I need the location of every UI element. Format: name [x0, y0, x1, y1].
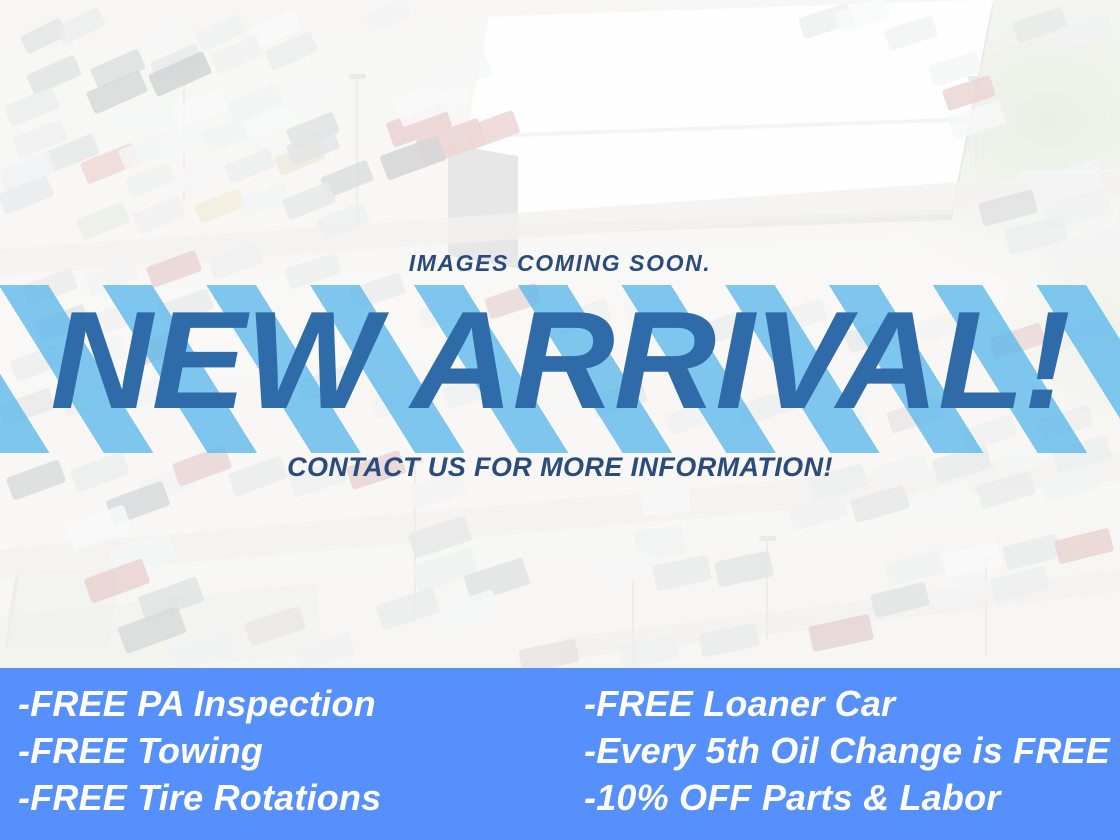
parked-vehicle: [170, 89, 228, 130]
parked-trailer: [1030, 159, 1105, 204]
parked-vehicle: [884, 550, 944, 587]
parked-vehicle: [914, 479, 974, 518]
parked-vehicle: [294, 632, 357, 673]
parked-vehicle: [280, 75, 338, 116]
offer-item: -10% OFF Parts & Labor: [584, 774, 1120, 821]
new-arrival-banner: IMAGES COMING SOON. NEW ARRIVAL! CONTACT…: [0, 0, 1120, 840]
contact-us-subtitle: CONTACT US FOR MORE INFORMATION!: [0, 452, 1120, 483]
parked-vehicle: [90, 48, 146, 89]
offers-left-column: -FREE PA Inspection -FREE Towing -FREE T…: [0, 668, 578, 840]
parked-vehicle: [117, 606, 187, 654]
parked-vehicle: [618, 634, 680, 670]
parked-vehicle: [316, 201, 371, 240]
parked-vehicle: [138, 15, 190, 54]
offer-item: -FREE PA Inspection: [18, 680, 578, 727]
parked-vehicle: [116, 97, 174, 138]
parked-vehicle: [641, 484, 692, 517]
offer-item: -FREE Towing: [18, 727, 578, 774]
parked-vehicle: [714, 550, 774, 587]
parked-vehicle: [808, 614, 874, 652]
images-coming-soon-text: IMAGES COMING SOON.: [0, 250, 1120, 277]
parked-vehicle: [148, 51, 213, 97]
parked-vehicle: [942, 75, 996, 111]
parked-vehicle: [286, 111, 341, 150]
parked-vehicle: [942, 542, 1002, 579]
parked-vehicle: [0, 151, 56, 192]
new-arrival-headline: NEW ARRIVAL!: [0, 286, 1120, 436]
warehouse-roof: [447, 0, 993, 232]
parked-vehicle: [168, 629, 237, 674]
lot-lane-3: [561, 562, 1120, 659]
parked-vehicle: [930, 574, 990, 611]
parked-vehicle: [274, 140, 326, 177]
parked-vehicle: [1054, 528, 1114, 565]
parked-vehicle: [928, 51, 982, 87]
parked-vehicle: [12, 119, 68, 159]
parked-vehicle: [238, 182, 290, 219]
parked-vehicle: [210, 35, 265, 75]
parked-vehicle: [850, 485, 910, 524]
parked-vehicle: [1002, 534, 1062, 571]
parked-vehicle: [137, 576, 204, 622]
parked-vehicle: [434, 589, 501, 633]
parked-vehicle: [56, 7, 106, 45]
parked-vehicle: [118, 131, 174, 171]
parked-vehicle: [407, 515, 472, 558]
light-pole-3: [414, 462, 416, 622]
light-pole-6: [985, 560, 987, 656]
parked-vehicle: [150, 43, 205, 83]
parked-vehicle: [26, 54, 82, 95]
parked-vehicle: [1012, 7, 1068, 44]
offers-right-column: -FREE Loaner Car -Every 5th Oil Change i…: [578, 668, 1120, 840]
parked-vehicle: [224, 148, 276, 185]
parked-vehicle: [83, 558, 150, 604]
light-pole-7: [183, 82, 185, 202]
parked-vehicle: [20, 17, 68, 54]
light-pole-2: [975, 80, 977, 170]
parked-truck: [379, 135, 446, 181]
parked-truck: [463, 110, 520, 150]
parked-vehicle: [124, 162, 176, 199]
parked-vehicle: [652, 554, 712, 591]
parked-vehicle: [226, 83, 284, 124]
parked-vehicle: [244, 606, 307, 647]
parked-vehicle: [80, 142, 141, 184]
parked-vehicle: [242, 103, 298, 143]
offer-item: -Every 5th Oil Change is FREE: [584, 727, 1120, 774]
parked-vehicle: [65, 504, 133, 552]
parked-vehicle: [202, 113, 258, 153]
parked-truck: [385, 102, 452, 148]
parked-truck: [415, 118, 487, 167]
parked-vehicle: [364, 0, 412, 34]
parked-vehicle: [1058, 13, 1114, 50]
light-pole-1: [356, 78, 358, 228]
parked-vehicle: [375, 587, 440, 630]
parked-truck: [978, 189, 1038, 227]
offer-item: -FREE Tire Rotations: [18, 774, 578, 821]
parked-trailer: [1042, 188, 1112, 230]
parked-vehicle: [174, 156, 226, 193]
parked-vehicle: [109, 530, 177, 578]
parked-vehicle: [264, 31, 319, 71]
parked-vehicle: [320, 159, 375, 198]
parked-vehicle: [0, 175, 54, 215]
left-shed-building: [4, 570, 120, 648]
parked-vehicle: [948, 100, 1007, 140]
parked-vehicle: [194, 13, 246, 52]
box-truck: [427, 51, 492, 96]
parked-vehicle: [798, 3, 854, 40]
parked-vehicle: [250, 9, 302, 48]
service-offers-banner: -FREE PA Inspection -FREE Towing -FREE T…: [0, 668, 1120, 840]
parked-vehicle: [592, 550, 652, 587]
parked-vehicle: [698, 622, 760, 658]
box-truck: [393, 75, 471, 128]
parked-vehicle: [870, 582, 930, 619]
parked-vehicle: [194, 188, 246, 225]
parked-vehicle: [990, 566, 1050, 603]
parked-vehicle: [76, 201, 131, 240]
light-pole-4: [632, 560, 634, 670]
parked-vehicle: [463, 557, 531, 603]
parked-vehicle: [834, 0, 890, 33]
parked-vehicle: [132, 195, 187, 234]
parked-vehicle: [158, 121, 214, 161]
parked-vehicle: [286, 127, 341, 166]
parked-vehicle: [788, 493, 848, 532]
parked-vehicle: [86, 69, 149, 115]
parked-vehicle: [411, 547, 479, 593]
parked-vehicle: [635, 526, 686, 559]
light-pole-5: [766, 540, 768, 640]
parked-vehicle: [884, 15, 938, 51]
parked-vehicle: [282, 181, 337, 220]
offer-item: -FREE Loaner Car: [584, 680, 1120, 727]
parked-vehicle: [44, 133, 100, 173]
parked-vehicle: [105, 481, 170, 526]
parked-vehicle: [4, 87, 60, 127]
far-building: [1009, 170, 1120, 240]
